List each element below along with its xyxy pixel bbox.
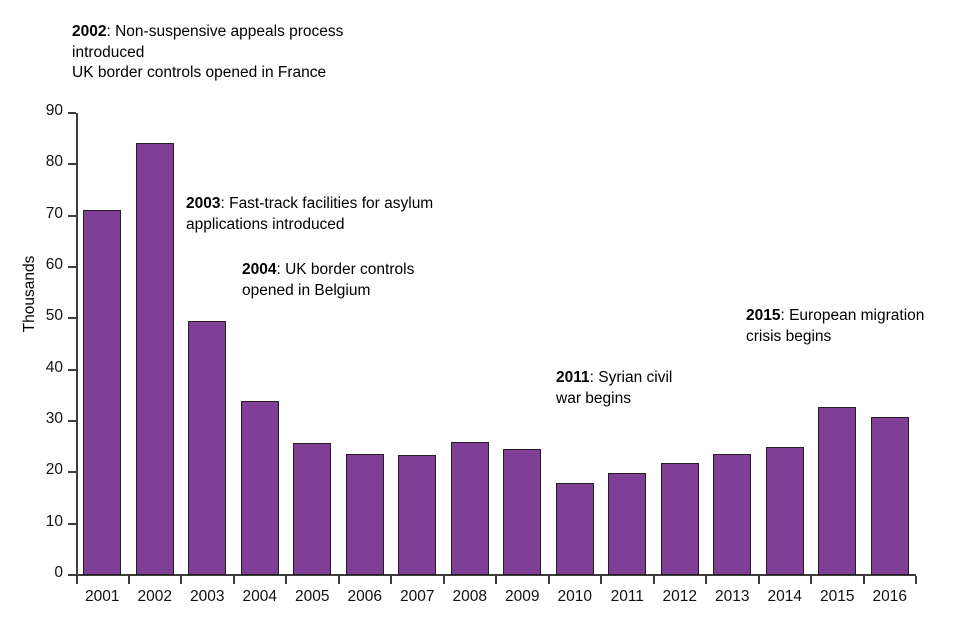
x-tick-label-2002: 2002 bbox=[138, 588, 172, 606]
y-tick-label: 0 bbox=[54, 564, 63, 582]
bar-chart-figure: Thousands 2002: Non-suspensive appeals p… bbox=[0, 0, 960, 640]
y-tick-mark bbox=[68, 266, 76, 268]
x-tick-mark bbox=[810, 576, 812, 584]
y-tick-mark bbox=[68, 112, 76, 114]
bar-2010 bbox=[556, 483, 594, 575]
bar-2012 bbox=[661, 463, 699, 575]
y-tick-mark bbox=[68, 317, 76, 319]
x-tick-label-2004: 2004 bbox=[243, 588, 277, 606]
bar-2011 bbox=[608, 473, 646, 575]
x-tick-mark bbox=[233, 576, 235, 584]
y-tick-label: 60 bbox=[46, 256, 63, 274]
y-axis-title: Thousands bbox=[21, 234, 39, 354]
x-tick-label-2015: 2015 bbox=[820, 588, 854, 606]
y-tick-label: 30 bbox=[46, 410, 63, 428]
x-tick-mark bbox=[915, 576, 917, 584]
bar-2004 bbox=[241, 401, 279, 575]
bar-2002 bbox=[136, 143, 174, 575]
x-tick-mark bbox=[548, 576, 550, 584]
y-tick-label: 90 bbox=[46, 102, 63, 120]
y-tick-label: 10 bbox=[46, 513, 63, 531]
x-tick-label-2001: 2001 bbox=[85, 588, 119, 606]
x-tick-mark bbox=[863, 576, 865, 584]
x-tick-mark bbox=[338, 576, 340, 584]
bar-2015 bbox=[818, 407, 856, 575]
x-tick-mark bbox=[600, 576, 602, 584]
bar-2009 bbox=[503, 449, 541, 575]
plot-area: 0102030405060708090 bbox=[76, 113, 916, 575]
bar-2007 bbox=[398, 455, 436, 575]
bar-2001 bbox=[83, 210, 121, 575]
y-axis-line bbox=[76, 113, 78, 575]
y-tick-mark bbox=[68, 369, 76, 371]
y-tick-label: 70 bbox=[46, 205, 63, 223]
bar-2005 bbox=[293, 443, 331, 575]
x-tick-mark bbox=[443, 576, 445, 584]
y-tick-label: 50 bbox=[46, 307, 63, 325]
x-tick-label-2008: 2008 bbox=[453, 588, 487, 606]
annotation-2002: 2002: Non-suspensive appeals process int… bbox=[72, 22, 432, 84]
bar-2006 bbox=[346, 454, 384, 575]
x-tick-mark bbox=[495, 576, 497, 584]
x-tick-mark bbox=[76, 576, 78, 584]
x-tick-label-2014: 2014 bbox=[768, 588, 802, 606]
x-tick-label-2003: 2003 bbox=[190, 588, 224, 606]
x-tick-mark bbox=[128, 576, 130, 584]
x-tick-label-2009: 2009 bbox=[505, 588, 539, 606]
y-tick-mark bbox=[68, 163, 76, 165]
y-tick-label: 80 bbox=[46, 153, 63, 171]
bar-2003 bbox=[188, 321, 226, 575]
x-tick-mark bbox=[285, 576, 287, 584]
y-tick-mark bbox=[68, 215, 76, 217]
x-tick-mark bbox=[390, 576, 392, 584]
annotation-2002-text: : Non-suspensive appeals process introdu… bbox=[72, 23, 343, 81]
x-tick-label-2013: 2013 bbox=[715, 588, 749, 606]
bar-2016 bbox=[871, 417, 909, 575]
x-tick-label-2011: 2011 bbox=[611, 588, 644, 606]
x-tick-label-2005: 2005 bbox=[295, 588, 329, 606]
x-tick-label-2012: 2012 bbox=[663, 588, 697, 606]
x-tick-label-2010: 2010 bbox=[558, 588, 592, 606]
x-tick-mark bbox=[705, 576, 707, 584]
x-tick-mark bbox=[180, 576, 182, 584]
x-tick-label-2006: 2006 bbox=[348, 588, 382, 606]
x-tick-mark bbox=[653, 576, 655, 584]
y-tick-mark bbox=[68, 471, 76, 473]
y-tick-mark bbox=[68, 574, 76, 576]
y-tick-mark bbox=[68, 523, 76, 525]
x-tick-label-2016: 2016 bbox=[873, 588, 907, 606]
y-tick-mark bbox=[68, 420, 76, 422]
bar-2014 bbox=[766, 447, 804, 575]
x-tick-mark bbox=[758, 576, 760, 584]
bar-2008 bbox=[451, 442, 489, 575]
x-tick-label-2007: 2007 bbox=[400, 588, 434, 606]
y-tick-label: 40 bbox=[46, 359, 63, 377]
annotation-2002-year: 2002 bbox=[72, 23, 106, 40]
bar-2013 bbox=[713, 454, 751, 575]
y-tick-label: 20 bbox=[46, 461, 63, 479]
